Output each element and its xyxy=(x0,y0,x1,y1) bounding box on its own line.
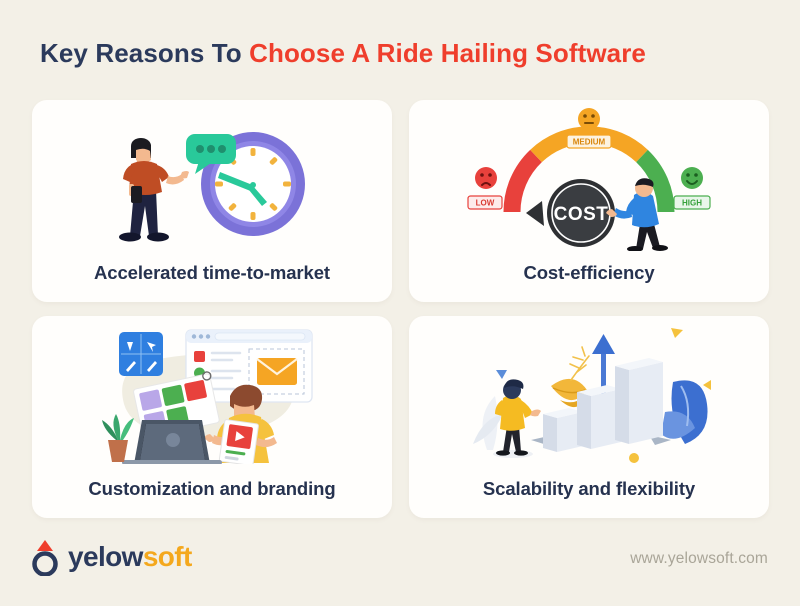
plant-icon xyxy=(102,414,134,462)
card-label: Accelerated time-to-market xyxy=(32,262,392,284)
page-title-accent: Choose A Ride Hailing Software xyxy=(249,38,646,68)
poster-card xyxy=(219,419,259,464)
card-label: Customization and branding xyxy=(32,478,392,500)
foliage-right xyxy=(661,380,708,444)
illustration-cost-gauge-meter: MEDIUM LOW xyxy=(409,106,769,246)
sprig-icon xyxy=(570,347,589,380)
card-cost-efficiency[interactable]: MEDIUM LOW xyxy=(409,100,769,302)
card-label: Scalability and flexibility xyxy=(409,478,769,500)
tool-panel-icon xyxy=(119,332,163,376)
page-title-plain: Key Reasons To xyxy=(40,38,249,68)
card-customization-and-branding[interactable]: Customization and branding xyxy=(32,316,392,518)
card-accelerated-time-to-market[interactable]: Accelerated time-to-market xyxy=(32,100,392,302)
envelope-icon xyxy=(257,358,297,385)
illustration-designer-with-swatches-and-laptop xyxy=(32,322,392,462)
logo-wordmark: yelowsoft xyxy=(68,543,192,571)
infographic-page: Key Reasons To Choose A Ride Hailing Sof… xyxy=(0,0,800,606)
logo-text-primary: yelow xyxy=(68,541,143,572)
logo-text-secondary: soft xyxy=(143,541,192,572)
high-indicator: HIGH xyxy=(674,167,710,209)
logo-mark-icon xyxy=(30,538,60,576)
website-url[interactable]: www.yelowsoft.com xyxy=(630,550,768,568)
gauge-low-label: LOW xyxy=(476,199,495,208)
card-label: Cost-efficiency xyxy=(409,262,769,284)
card-grid: Accelerated time-to-market xyxy=(32,100,770,518)
card-scalability-and-flexibility[interactable]: Scalability and flexibility xyxy=(409,316,769,518)
gauge-medium-label: MEDIUM xyxy=(573,138,606,147)
cost-ball-label: COST xyxy=(554,204,609,225)
cost-ball: COST xyxy=(526,179,615,247)
person-figure xyxy=(119,138,189,242)
up-arrow-icon xyxy=(592,334,615,394)
illustration-person-with-phone-and-clock xyxy=(32,106,392,246)
illustration-growing-bar-chart-with-person xyxy=(409,322,769,462)
low-indicator: LOW xyxy=(468,167,502,209)
footer: yelowsoft www.yelowsoft.com xyxy=(0,528,800,606)
page-title: Key Reasons To Choose A Ride Hailing Sof… xyxy=(40,38,646,69)
gauge-high-label: HIGH xyxy=(682,199,702,208)
brand-logo[interactable]: yelowsoft xyxy=(30,538,192,576)
